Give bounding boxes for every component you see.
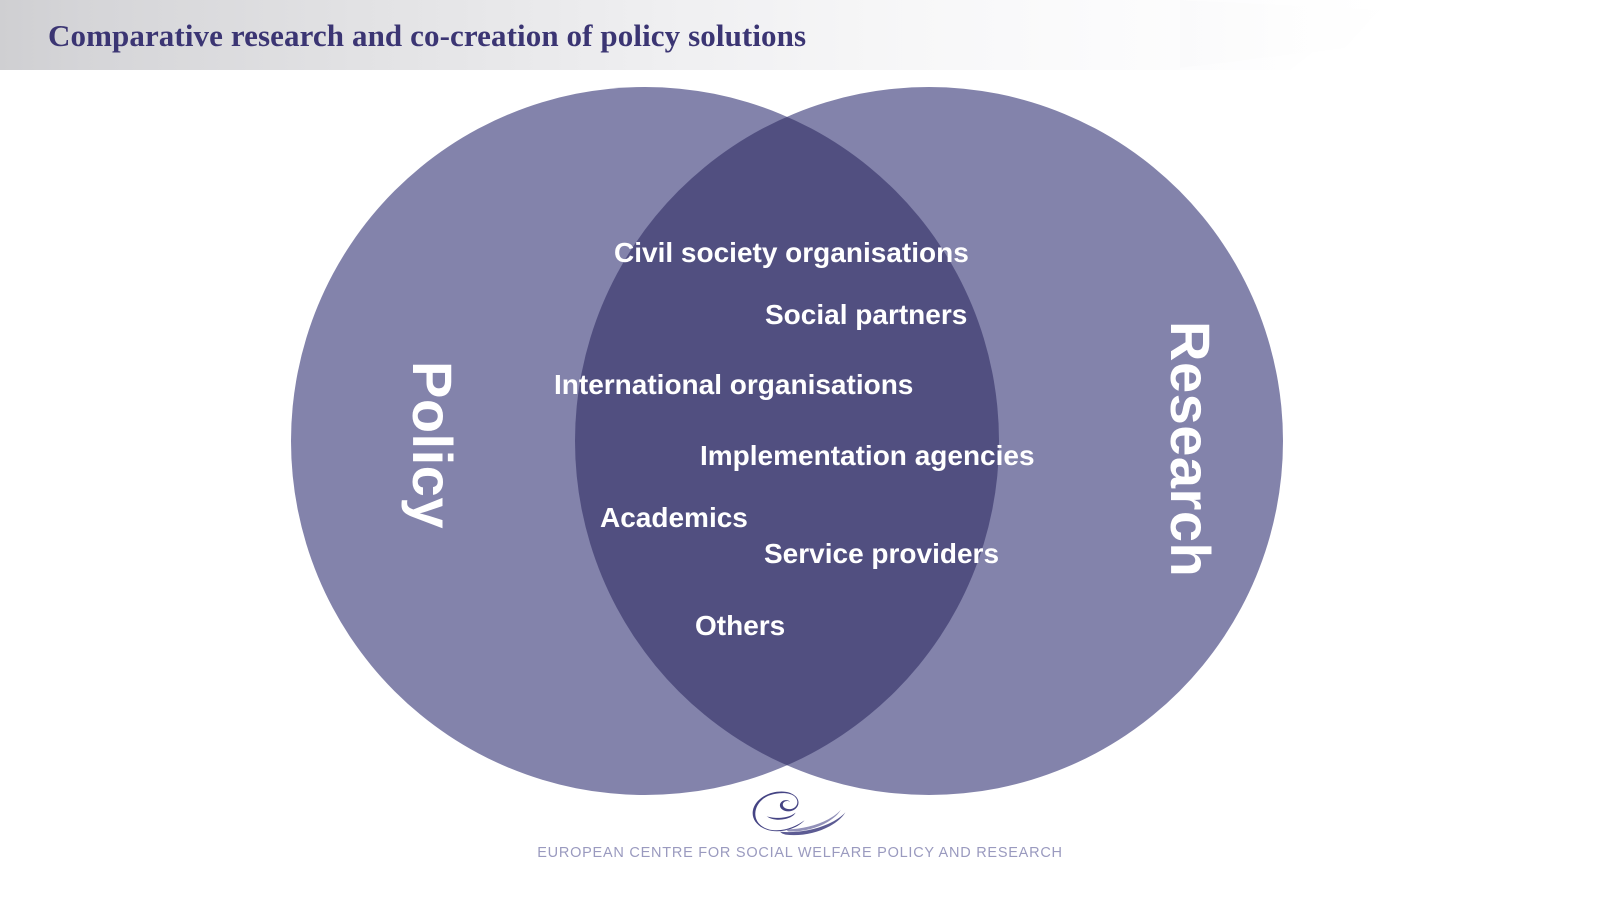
organisation-logo: EUROPEAN CENTRE FOR SOCIAL WELFARE POLIC… (520, 786, 1080, 878)
intersection-item-others: Others (695, 609, 785, 643)
intersection-item-civil-society-organisations: Civil society organisations (614, 236, 969, 270)
page-title: Comparative research and co-creation of … (48, 16, 806, 56)
intersection-item-social-partners: Social partners (765, 298, 967, 332)
logo-wordmark: EUROPEAN CENTRE FOR SOCIAL WELFARE POLIC… (520, 844, 1080, 862)
slide-canvas: Comparative research and co-creation of … (0, 0, 1600, 900)
venn-label-research: Research (1161, 321, 1219, 561)
venn-label-policy: Policy (403, 361, 461, 521)
intersection-item-service-providers: Service providers (764, 537, 999, 571)
european-centre-swirl-logo-icon (740, 786, 860, 838)
intersection-item-academics: Academics (600, 501, 748, 535)
intersection-item-implementation-agencies: Implementation agencies (700, 439, 1035, 473)
intersection-item-international-organisations: International organisations (554, 368, 913, 402)
